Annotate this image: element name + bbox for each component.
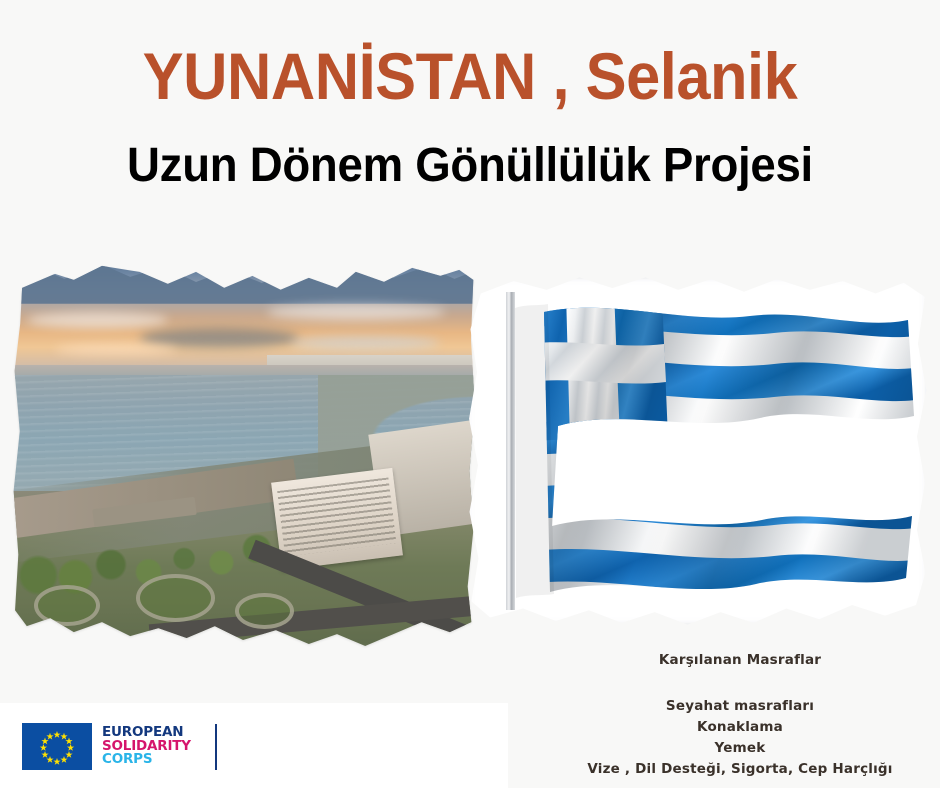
costs-list-item: Konaklama <box>540 717 940 738</box>
flag-pole-shadow <box>515 304 554 598</box>
costs-heading: Karşılanan Masraflar <box>540 652 940 668</box>
flag-card <box>462 272 932 630</box>
photo-mountains <box>8 252 478 304</box>
photo-cloud <box>140 328 300 348</box>
costs-list-item: Yemek <box>540 738 940 759</box>
photo-cloud <box>27 312 168 328</box>
city-photo-torn-frame <box>8 252 478 650</box>
photo-cloud <box>267 304 446 320</box>
city-photo-card <box>8 252 478 650</box>
greek-flag-icon <box>474 288 920 614</box>
costs-list: Seyahat masrafları Konaklama Yemek Vize … <box>540 696 940 780</box>
flag-pole <box>506 292 515 610</box>
city-photo-image <box>8 252 478 650</box>
esc-line-corps: CORPS <box>102 753 191 767</box>
eu-flag-icon <box>22 723 92 770</box>
photo-park <box>17 570 346 650</box>
page-subtitle: Uzun Dönem Gönüllülük Projesi <box>24 138 917 193</box>
page-title: YUNANİSTAN , Selanik <box>33 38 907 114</box>
photo-cloud <box>290 336 440 350</box>
poster-canvas: YUNANİSTAN , Selanik Uzun Dönem Gönüllül… <box>0 0 940 788</box>
costs-list-item: Vize , Dil Desteği, Sigorta, Cep Harçlığ… <box>540 759 940 780</box>
flag-stripes <box>504 288 920 614</box>
esc-wordmark: EUROPEAN SOLIDARITY CORPS <box>102 726 191 767</box>
logo-band: EUROPEAN SOLIDARITY CORPS <box>0 703 508 788</box>
costs-list-item: Seyahat masrafları <box>540 696 940 717</box>
logo-divider <box>215 724 217 770</box>
costs-section: Karşılanan Masraflar Seyahat masrafları … <box>540 652 940 780</box>
european-solidarity-corps-logo: EUROPEAN SOLIDARITY CORPS <box>22 723 217 770</box>
